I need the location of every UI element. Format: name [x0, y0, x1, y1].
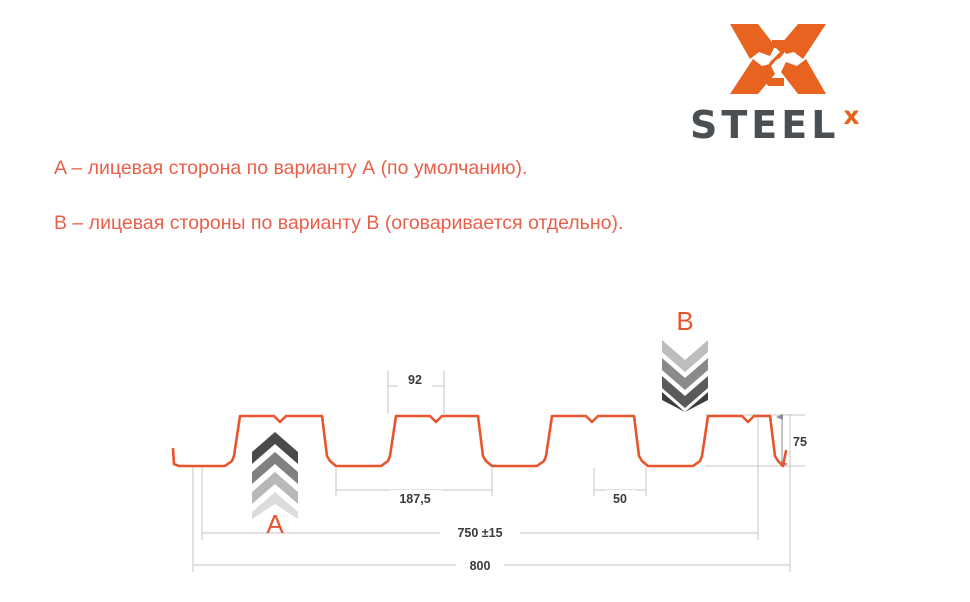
marker-b-group: B	[662, 306, 708, 412]
dimension-labels: 92 187,5 50 750 ±15 800 75	[390, 373, 807, 573]
dimension-label-rib-top-width: 92	[408, 373, 422, 387]
dimension-label-total-width: 800	[470, 559, 491, 573]
marker-a-group: A	[252, 432, 298, 539]
marker-a-label: A	[266, 509, 284, 539]
profile-technical-drawing: A B 92 187,5 50 750 ±15 800 75	[0, 0, 970, 597]
dimension-label-rib-pitch: 187,5	[399, 492, 430, 506]
chevron-up-stack-icon	[252, 432, 298, 519]
dimension-label-height: 75	[793, 435, 807, 449]
chevron-down-stack-icon	[662, 340, 708, 412]
dimension-label-valley-width: 50	[613, 492, 627, 506]
marker-b-label: B	[676, 306, 693, 336]
dimension-label-cover-width: 750 ±15	[457, 526, 502, 540]
